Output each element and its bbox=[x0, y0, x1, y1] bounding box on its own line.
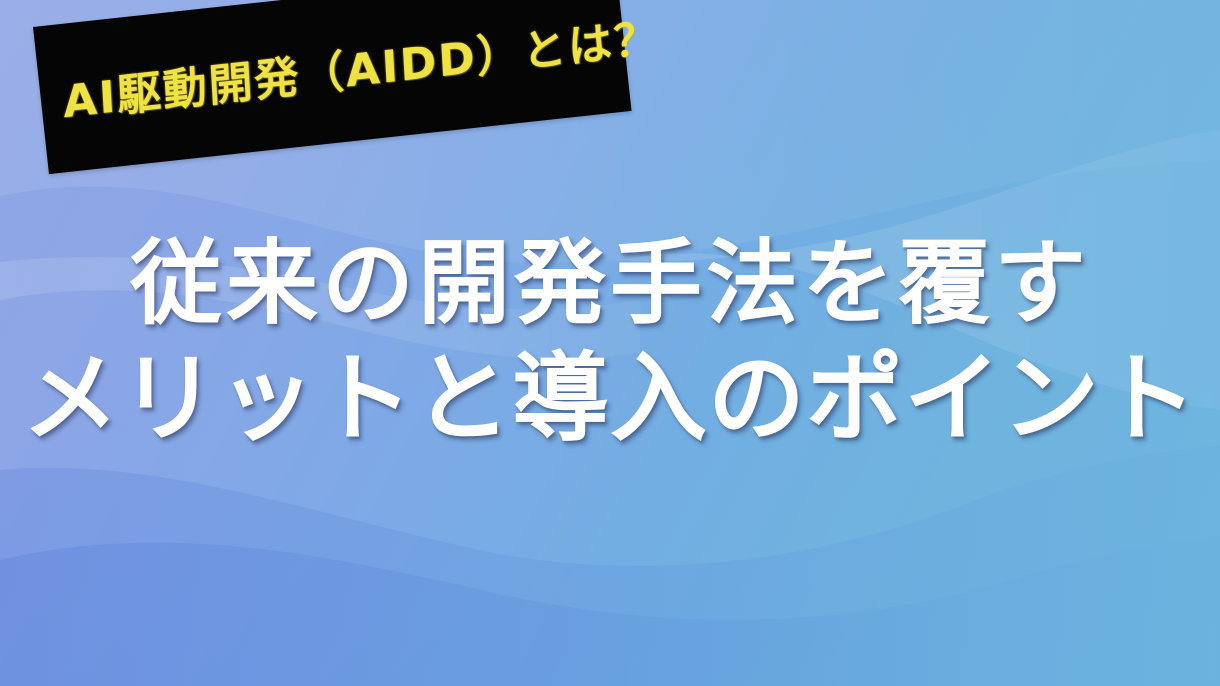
page-title: 従来の開発手法を覆す メリットと導入のポイント bbox=[0, 228, 1220, 458]
slide-canvas: AI駆動開発（AIDD）とは？ 従来の開発手法を覆す メリットと導入のポイント bbox=[0, 0, 1220, 686]
headline-line-2: メリットと導入のポイント bbox=[0, 340, 1220, 458]
headline-line-1: 従来の開発手法を覆す bbox=[0, 228, 1220, 340]
banner-label: AI駆動開発（AIDD）とは？ bbox=[39, 1, 661, 132]
